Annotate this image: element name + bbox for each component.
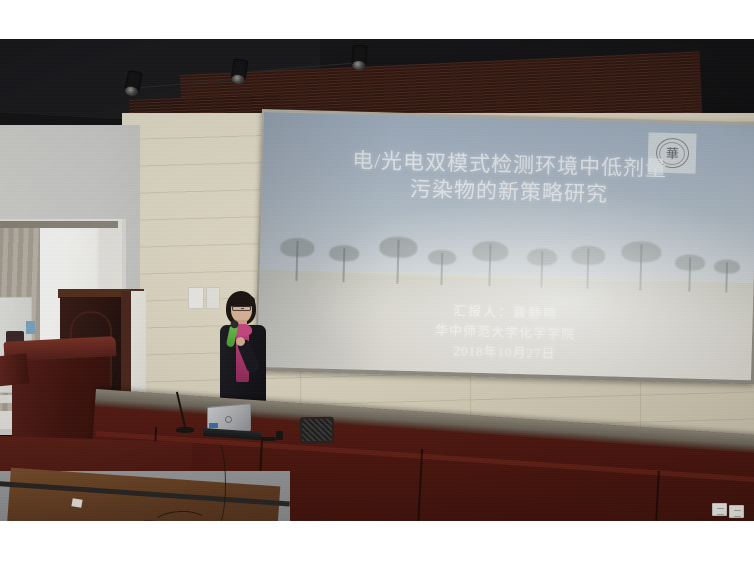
desk-cable-end [262,437,276,441]
laptop-sticker [209,423,218,428]
slide-tree [427,253,456,286]
chair-backrest [300,417,334,444]
slide-tree [674,257,705,292]
slide-tree [620,244,661,291]
slide-metadata: 汇报人：龚静鸣 华中师范大学化学学院 2018年10月27日 [307,297,704,368]
slide-tree [571,249,606,290]
cable-run [206,439,226,521]
screenshot-root: 華 电/光电双模式检测环境中低剂量 污染物的新策略研究 汇报人：龚静鸣 华中师范… [0,0,754,564]
laptop-logo-icon [225,416,232,423]
slide-tree [329,248,360,283]
slide-tree [378,239,417,284]
wall-socket [729,505,744,518]
gooseneck-microphone-icon [166,391,200,431]
air-conditioner-label [26,321,35,334]
slide-tree [279,241,314,282]
projection-screen: 華 电/光电双模式检测环境中低剂量 污染物的新策略研究 汇报人：龚静鸣 华中师范… [257,112,754,380]
slide-tree [472,244,509,287]
paper-slip [71,498,82,508]
presenter-hand [236,337,245,346]
wall-socket [712,503,727,516]
slide-tree [526,251,557,288]
lecture-hall-photo: 華 电/光电双模式检测环境中低剂量 污染物的新策略研究 汇报人：龚静鸣 华中师范… [0,39,754,521]
ceiling-spotlight-icon [351,45,367,68]
laptop-computer [203,405,261,441]
curtain-rail [0,221,118,228]
wall-sign [188,287,204,309]
eyeglasses-icon [232,306,251,311]
desk-object [276,431,283,440]
lectern-side-wing [0,353,29,386]
slide-tree [714,263,741,294]
